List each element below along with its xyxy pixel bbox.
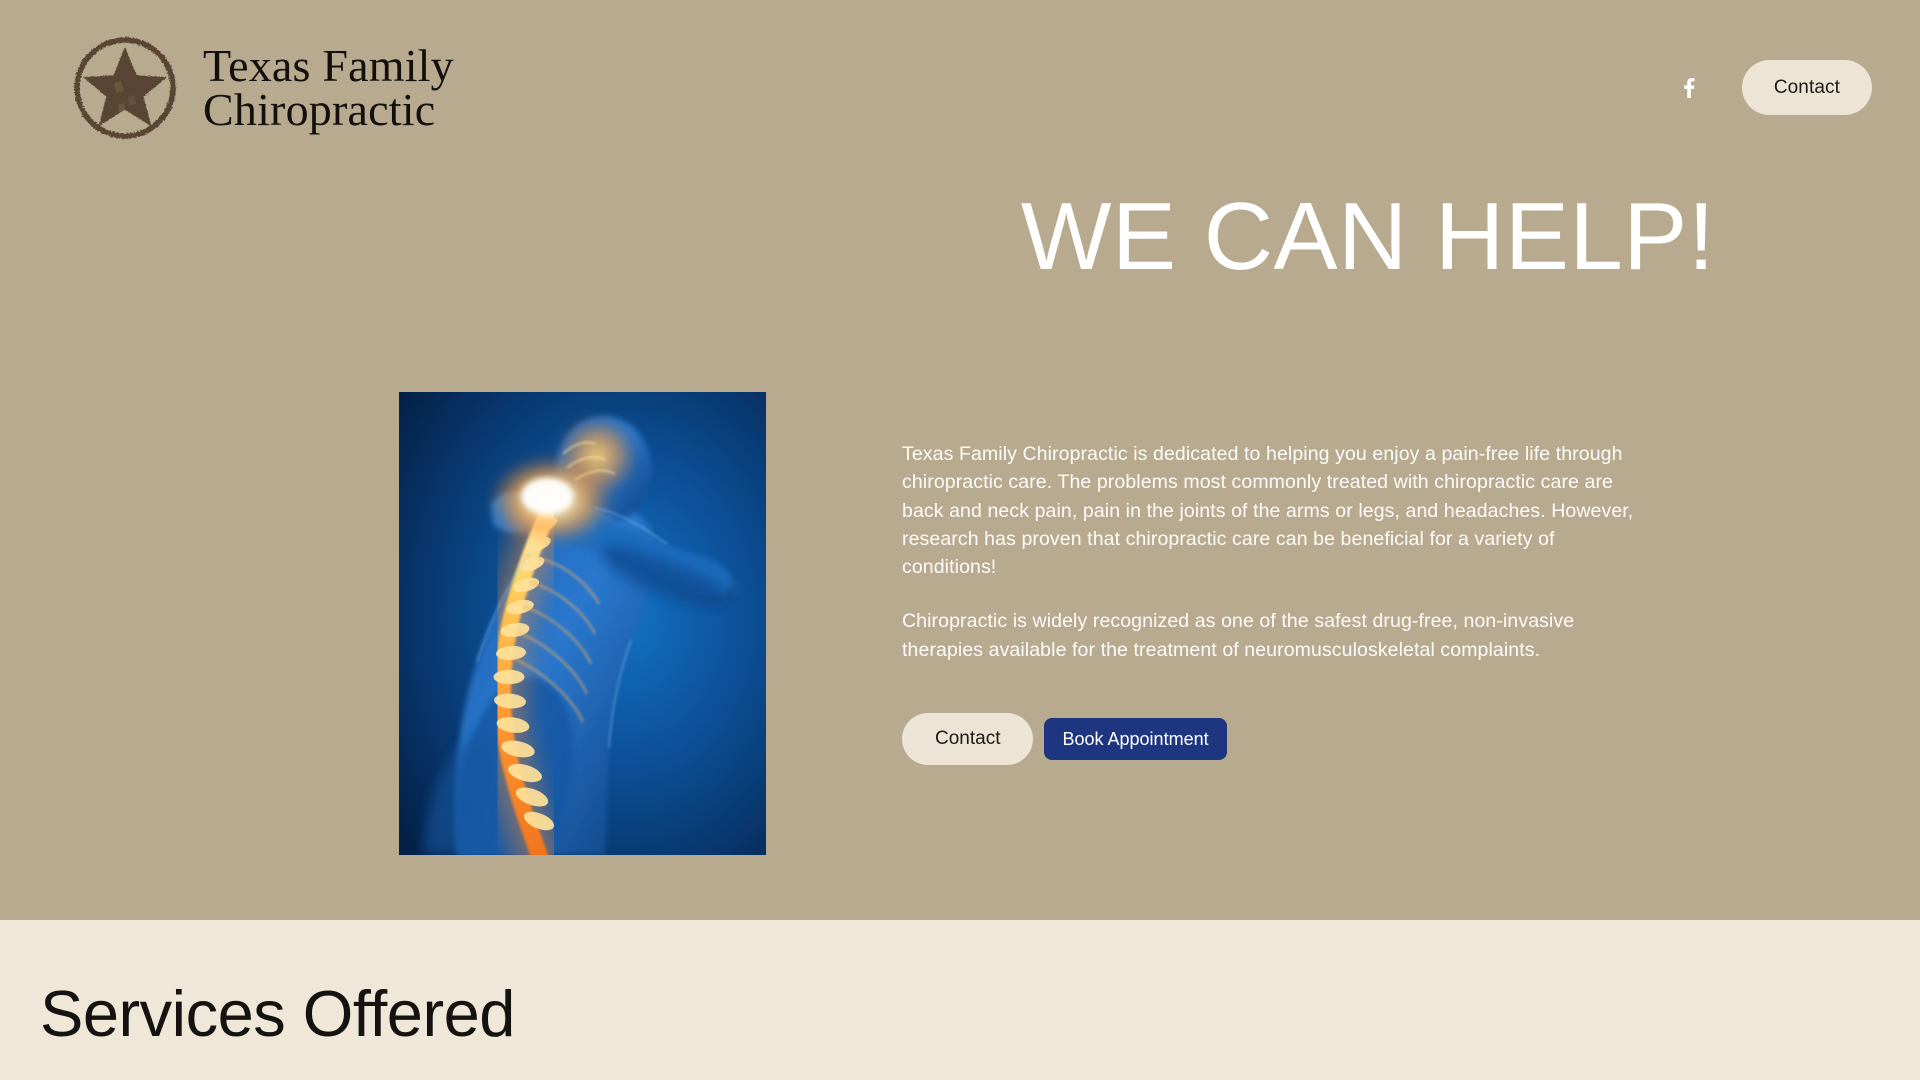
site-header: Texas Family Chiropractic Contact xyxy=(0,0,1920,175)
facebook-icon[interactable] xyxy=(1672,71,1706,105)
brand-logo-link[interactable]: Texas Family Chiropractic xyxy=(68,31,454,145)
hero-paragraph-1: Texas Family Chiropractic is dedicated t… xyxy=(902,440,1642,581)
hero-paragraph-2: Chiropractic is widely recognized as one… xyxy=(902,607,1642,664)
book-appointment-button[interactable]: Book Appointment xyxy=(1044,718,1226,760)
page-root: Texas Family Chiropractic Contact WE CAN… xyxy=(0,0,1920,1080)
hero-contact-button[interactable]: Contact xyxy=(902,713,1033,765)
hero-headline: WE CAN HELP! xyxy=(0,185,1920,289)
spine-pain-illustration xyxy=(399,392,766,855)
hero-actions: Contact Book Appointment xyxy=(902,713,1227,765)
hero-body: Texas Family Chiropractic is dedicated t… xyxy=(0,392,1920,862)
services-section: Services Offered xyxy=(0,920,1920,1080)
hero-copy: Texas Family Chiropractic is dedicated t… xyxy=(902,440,1642,664)
star-in-circle-icon xyxy=(68,31,182,145)
brand-wordmark: Texas Family Chiropractic xyxy=(203,44,454,131)
hero-section: Texas Family Chiropractic Contact WE CAN… xyxy=(0,0,1920,920)
header-contact-button[interactable]: Contact xyxy=(1742,60,1872,115)
header-actions: Contact xyxy=(1672,60,1872,115)
services-heading: Services Offered xyxy=(40,978,515,1050)
